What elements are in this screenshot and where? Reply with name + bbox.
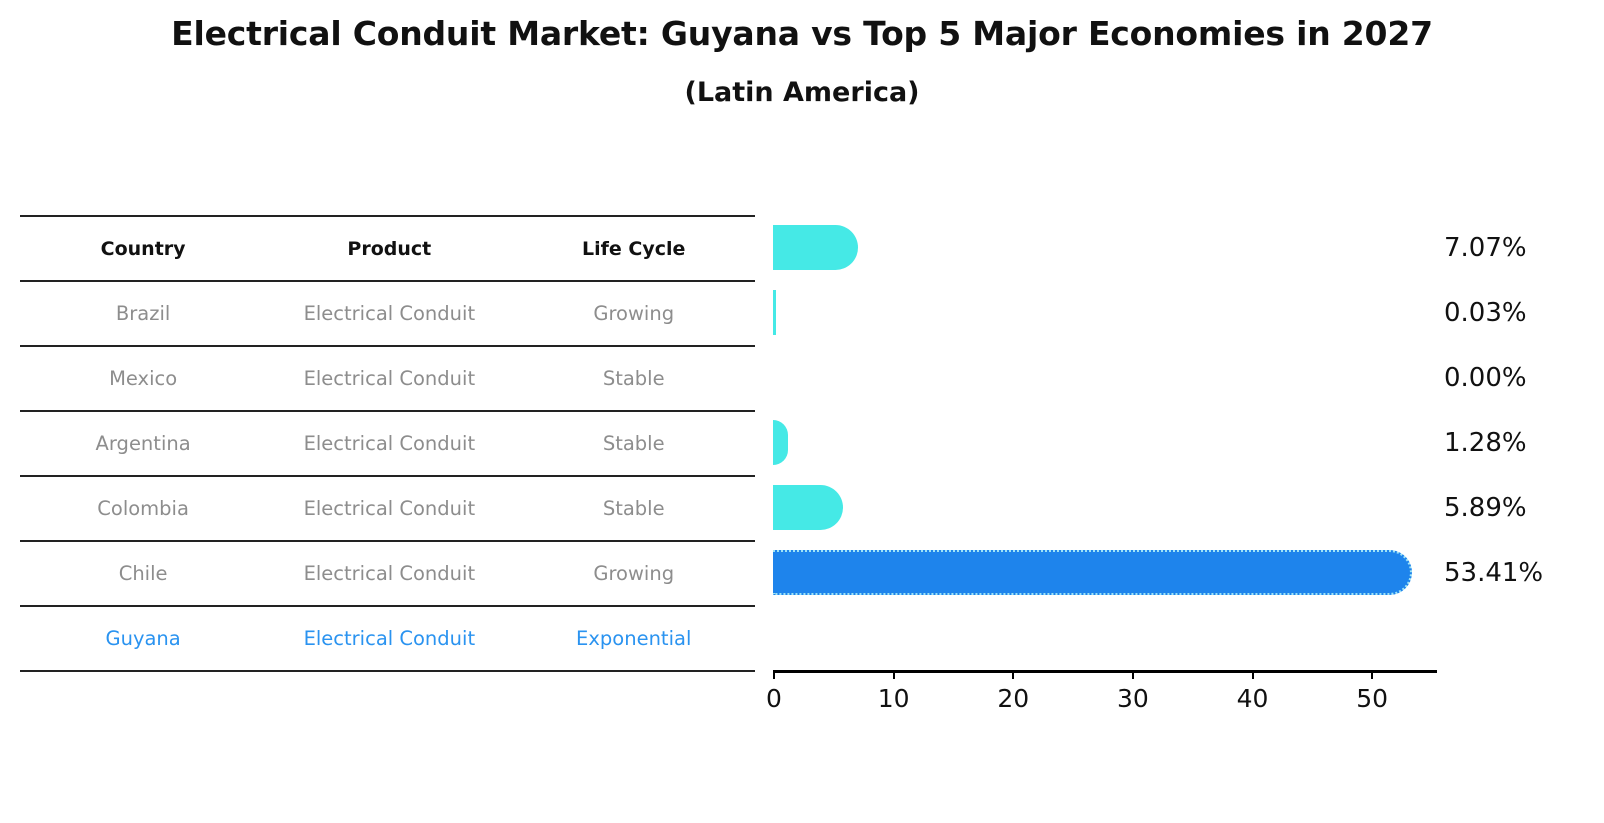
x-axis-tick bbox=[1371, 670, 1373, 679]
x-axis-tick-label: 30 bbox=[1117, 684, 1149, 713]
column-header-life-cycle: Life Cycle bbox=[512, 216, 755, 281]
cell-country: Chile bbox=[20, 541, 266, 606]
table-row: Colombia Electrical Conduit Stable bbox=[20, 476, 755, 541]
bar-row bbox=[773, 280, 1437, 345]
value-label: 0.03% bbox=[1444, 298, 1527, 328]
value-label: 5.89% bbox=[1444, 493, 1527, 523]
cell-product: Electrical Conduit bbox=[266, 346, 512, 411]
cell-life-cycle: Exponential bbox=[512, 606, 755, 671]
value-label: 1.28% bbox=[1444, 428, 1527, 458]
x-axis-tick-label: 0 bbox=[766, 684, 782, 713]
column-header-country: Country bbox=[20, 216, 266, 281]
x-axis-tick-label: 20 bbox=[997, 684, 1029, 713]
bar-row bbox=[773, 475, 1437, 540]
bar-highlighted bbox=[773, 550, 1412, 595]
bar-chart: 01020304050 bbox=[773, 215, 1437, 683]
cell-country: Brazil bbox=[20, 281, 266, 346]
table-body: Brazil Electrical Conduit Growing Mexico… bbox=[20, 281, 755, 671]
x-axis-tick-label: 10 bbox=[878, 684, 910, 713]
plot-area bbox=[773, 215, 1437, 670]
cell-country: Mexico bbox=[20, 346, 266, 411]
bar-row bbox=[773, 215, 1437, 280]
bar-row bbox=[773, 345, 1437, 410]
x-axis-tick bbox=[1132, 670, 1134, 679]
column-header-product: Product bbox=[266, 216, 512, 281]
bar-row bbox=[773, 540, 1437, 605]
cell-life-cycle: Stable bbox=[512, 346, 755, 411]
bar bbox=[773, 420, 788, 465]
cell-life-cycle: Stable bbox=[512, 476, 755, 541]
cell-country: Argentina bbox=[20, 411, 266, 476]
bar bbox=[773, 485, 843, 530]
x-axis-tick-label: 40 bbox=[1237, 684, 1269, 713]
bar bbox=[773, 290, 776, 335]
table-row: Mexico Electrical Conduit Stable bbox=[20, 346, 755, 411]
value-label: 0.00% bbox=[1444, 363, 1527, 393]
cell-product: Electrical Conduit bbox=[266, 411, 512, 476]
cell-life-cycle: Growing bbox=[512, 541, 755, 606]
page-title: Electrical Conduit Market: Guyana vs Top… bbox=[0, 14, 1604, 53]
table-header: Country Product Life Cycle bbox=[20, 216, 755, 281]
table-row: Argentina Electrical Conduit Stable bbox=[20, 411, 755, 476]
cell-country: Colombia bbox=[20, 476, 266, 541]
x-axis-tick-label: 50 bbox=[1356, 684, 1388, 713]
table-row: Brazil Electrical Conduit Growing bbox=[20, 281, 755, 346]
cell-life-cycle: Stable bbox=[512, 411, 755, 476]
value-label: 7.07% bbox=[1444, 233, 1527, 263]
bar bbox=[773, 225, 858, 270]
country-table: Country Product Life Cycle Brazil Electr… bbox=[20, 215, 755, 672]
cell-life-cycle: Growing bbox=[512, 281, 755, 346]
country-table-container: Country Product Life Cycle Brazil Electr… bbox=[20, 215, 755, 672]
cell-product: Electrical Conduit bbox=[266, 281, 512, 346]
cell-product: Electrical Conduit bbox=[266, 476, 512, 541]
x-axis-tick bbox=[1012, 670, 1014, 679]
chart-page: Electrical Conduit Market: Guyana vs Top… bbox=[0, 0, 1604, 823]
cell-product: Electrical Conduit bbox=[266, 606, 512, 671]
x-axis-tick bbox=[1252, 670, 1254, 679]
value-label: 53.41% bbox=[1444, 558, 1543, 588]
bar-row bbox=[773, 410, 1437, 475]
table-row: Chile Electrical Conduit Growing bbox=[20, 541, 755, 606]
table-row-highlighted: Guyana Electrical Conduit Exponential bbox=[20, 606, 755, 671]
x-axis-tick bbox=[893, 670, 895, 679]
x-axis-tick bbox=[773, 670, 775, 679]
page-subtitle: (Latin America) bbox=[0, 77, 1604, 108]
table-header-row: Country Product Life Cycle bbox=[20, 216, 755, 281]
x-axis-line bbox=[773, 670, 1437, 673]
cell-country: Guyana bbox=[20, 606, 266, 671]
cell-product: Electrical Conduit bbox=[266, 541, 512, 606]
